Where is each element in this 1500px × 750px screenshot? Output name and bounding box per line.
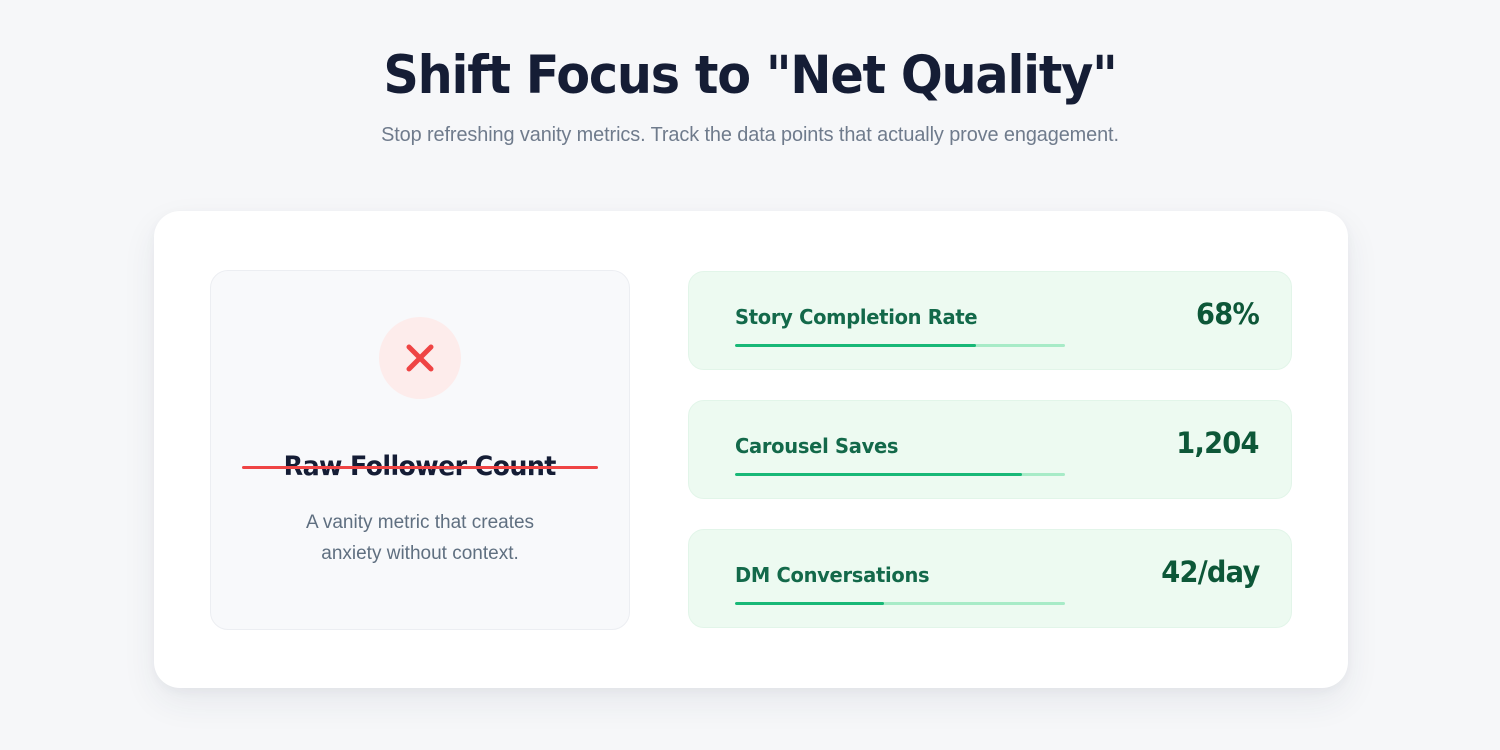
metric-progress-fill	[735, 602, 884, 605]
page-title: Shift Focus to "Net Quality"	[53, 46, 1448, 105]
metric-card-carousel-saves[interactable]: Carousel Saves 1,204	[688, 400, 1292, 499]
strikethrough-line	[242, 466, 597, 470]
metric-label: DM Conversations	[735, 563, 929, 587]
metric-value: 68%	[1196, 297, 1259, 331]
metric-progress-fill	[735, 473, 1022, 476]
metric-label: Carousel Saves	[735, 434, 898, 458]
metric-progress-track	[735, 344, 1065, 347]
metric-progress-fill	[735, 344, 976, 347]
metric-progress-track	[735, 602, 1065, 605]
metric-card-story-completion-rate[interactable]: Story Completion Rate 68%	[688, 271, 1292, 370]
vanity-metric-card: Raw Follower Count A vanity metric that …	[210, 270, 630, 630]
metric-header: DM Conversations 42/day	[735, 555, 1259, 589]
struck-metric-name: Raw Follower Count	[261, 451, 578, 482]
page-subtitle: Stop refreshing vanity metrics. Track th…	[23, 123, 1478, 147]
content-panel: Raw Follower Count A vanity metric that …	[154, 211, 1348, 688]
metric-progress-track	[735, 473, 1065, 476]
metric-header: Carousel Saves 1,204	[735, 426, 1259, 460]
page-header: Shift Focus to "Net Quality" Stop refres…	[0, 0, 1500, 147]
metric-value: 42/day	[1161, 555, 1259, 589]
metric-label: Story Completion Rate	[735, 305, 977, 329]
metric-card-dm-conversations[interactable]: DM Conversations 42/day	[688, 529, 1292, 628]
x-mark-icon	[379, 317, 461, 399]
metric-value: 1,204	[1177, 426, 1259, 460]
quality-metrics-list: Story Completion Rate 68% Carousel Saves…	[688, 211, 1292, 688]
page-root: Shift Focus to "Net Quality" Stop refres…	[0, 0, 1500, 750]
vanity-metric-description: A vanity metric that creates anxiety wit…	[285, 508, 555, 570]
metric-header: Story Completion Rate 68%	[735, 297, 1259, 331]
